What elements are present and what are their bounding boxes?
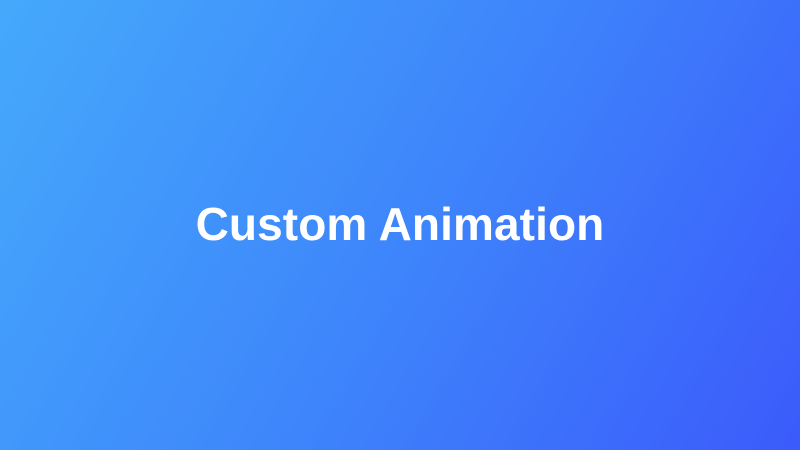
slide-canvas: Custom Animation xyxy=(0,0,800,450)
slide-title: Custom Animation xyxy=(196,199,605,250)
